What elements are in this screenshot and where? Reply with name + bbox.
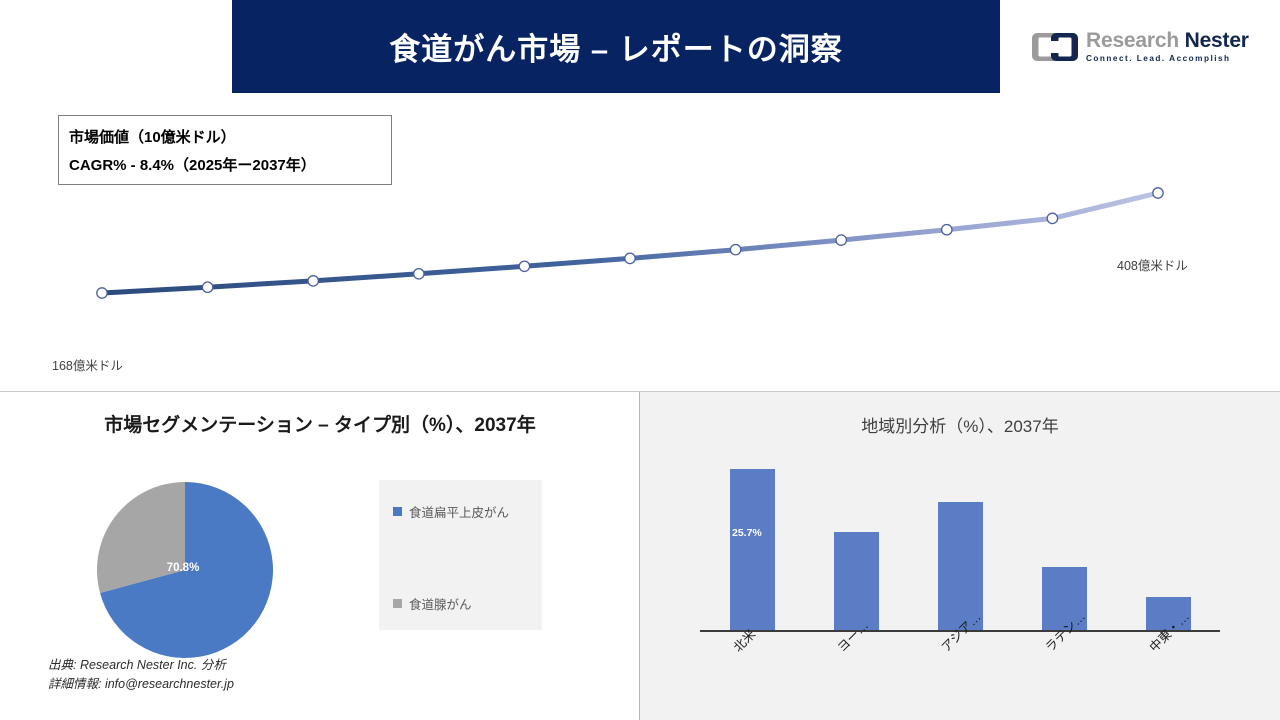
legend-swatch-0 [393,507,402,516]
line-data-point-2028[interactable] [414,269,424,279]
bar-data-label-0: 25.7% [732,527,762,539]
logo-name-research: Research [1086,29,1179,52]
line-data-point-2034[interactable] [1047,213,1057,223]
line-chart-svg [0,93,1280,390]
market-value-line-chart: 168億米ドル 408億米ドル 202520262027202820292030… [0,93,1280,390]
legend-swatch-1 [393,599,402,608]
source-line-2: 詳細情報: info@researchnester.jp [48,675,234,694]
line-data-point-2031[interactable] [730,245,740,255]
legend-label-0: 食道扁平上皮がん [409,502,509,521]
line-data-point-2025[interactable] [97,288,107,298]
line-end-value-label: 408億米ドル [1117,255,1188,274]
header-banner: 食道がん市場 – レポートの洞察 [232,0,1000,93]
research-nester-logo-icon [1032,30,1078,64]
line-data-point-2026[interactable] [202,282,212,292]
bar-0[interactable] [730,469,775,631]
bar-chart-plot-area: 25.7% [700,454,1220,630]
pie-chart-title: 市場セグメンテーション – タイプ別（%）、2037年 [40,410,600,441]
source-line-1: 出典: Research Nester Inc. 分析 [48,656,234,675]
page-title: 食道がん市場 – レポートの洞察 [389,24,842,69]
bar-chart-x-tick-labels: 北米ヨー…アジア…ラテン…中東・… [700,636,1220,706]
line-start-value-label: 168億米ドル [52,355,123,374]
legend-item-0[interactable]: 食道扁平上皮がん [393,502,509,521]
pie-legend: 食道扁平上皮がん 食道腺がん [379,480,542,630]
line-data-point-2030[interactable] [625,253,635,263]
line-data-point-2037[interactable] [1153,188,1163,198]
legend-label-1: 食道腺がん [409,594,472,613]
line-data-point-2027[interactable] [308,276,318,286]
bar-chart-title: 地域別分析（%）、2037年 [640,412,1280,437]
logo-name: Research Nester [1086,30,1249,51]
brand-logo: Research Nester Connect. Lead. Accomplis… [1032,22,1252,72]
line-data-point-2033[interactable] [942,225,952,235]
segmentation-pie-panel: 市場セグメンテーション – タイプ別（%）、2037年 食道扁平上皮がん 食道腺… [0,392,640,720]
logo-name-nester: Nester [1185,29,1249,52]
logo-tagline: Connect. Lead. Accomplish [1086,55,1249,63]
line-data-point-2032[interactable] [836,235,846,245]
pie-data-label-0: 70.8% [167,562,200,574]
bar-1[interactable] [834,532,879,630]
report-page: 食道がん市場 – レポートの洞察 Research Nester Connect… [0,0,1280,720]
line-data-point-2029[interactable] [519,261,529,271]
source-note: 出典: Research Nester Inc. 分析 詳細情報: info@r… [48,656,234,695]
logo-text: Research Nester Connect. Lead. Accomplis… [1086,30,1249,63]
legend-item-1[interactable]: 食道腺がん [393,594,472,613]
regional-bar-panel: 地域別分析（%）、2037年 25.7% 北米ヨー…アジア…ラテン…中東・… [640,392,1280,720]
